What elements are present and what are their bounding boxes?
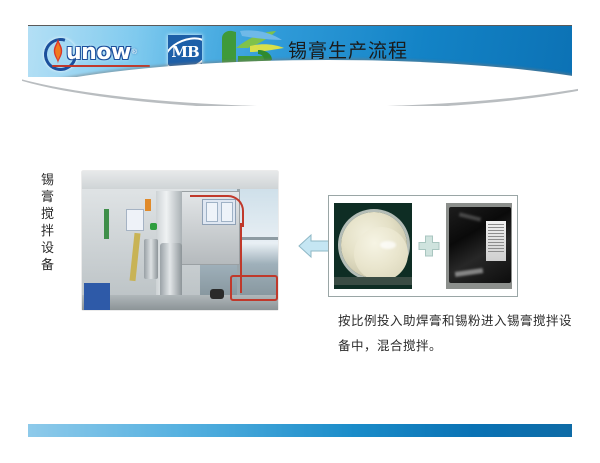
equipment-vertical-label: 锡膏搅拌设备 xyxy=(38,172,58,274)
photo-blue-crate xyxy=(84,283,110,310)
photo-black-fitting xyxy=(210,289,224,299)
photo-wall-document xyxy=(126,209,144,231)
header-banner: unow ® MB 昊瑞电子 xyxy=(28,25,572,77)
photo-secondary-vessel xyxy=(144,239,158,279)
flux-dish xyxy=(341,212,407,278)
pouch-highlight-top xyxy=(459,212,481,221)
mb-badge-box: MB xyxy=(168,35,202,69)
logo-mb-badge: MB xyxy=(162,26,208,77)
mb-letters: MB xyxy=(168,35,202,69)
flux-photo-foreground xyxy=(334,277,412,285)
photo-ceiling xyxy=(82,171,278,189)
page-title: 锡膏生产流程 xyxy=(288,36,408,63)
pouch-label-text-lines xyxy=(488,224,504,254)
flux-dish-highlight xyxy=(380,241,396,249)
footer-bar xyxy=(28,424,572,437)
pouch-label xyxy=(486,221,506,261)
equipment-photo xyxy=(82,171,278,310)
materials-image-group xyxy=(328,195,518,297)
flame-icon xyxy=(52,39,64,64)
solder-powder-photo xyxy=(446,203,512,289)
haorui-mark: 昊瑞电子 xyxy=(214,26,290,77)
haorui-chinese-text: 昊瑞电子 xyxy=(220,65,286,76)
plus-icon xyxy=(418,235,440,257)
registered-mark-icon: ® xyxy=(132,49,137,56)
slide-canvas: unow ® MB 昊瑞电子 xyxy=(0,0,600,463)
logo-unow: unow ® xyxy=(44,26,156,77)
materials-caption: 按比例投入助焊膏和锡粉进入锡膏搅拌设备中，混合搅拌。 xyxy=(338,308,574,358)
logo-haorui: 昊瑞电子 xyxy=(214,26,290,77)
flux-dish-contents xyxy=(354,227,408,281)
photo-green-strip xyxy=(104,209,109,239)
unow-flame-icon xyxy=(44,37,74,67)
photo-orange-marker xyxy=(145,199,151,211)
photo-green-button xyxy=(150,223,157,230)
pouch-highlight-bottom xyxy=(455,268,483,277)
photo-red-rack xyxy=(230,275,278,301)
flux-paste-photo xyxy=(334,203,412,289)
solder-powder-pouch xyxy=(449,207,511,283)
photo-red-hose xyxy=(190,195,244,227)
unow-underline xyxy=(52,65,150,67)
flow-arrow-left-icon xyxy=(298,232,332,260)
haorui-h-icon xyxy=(214,26,290,72)
